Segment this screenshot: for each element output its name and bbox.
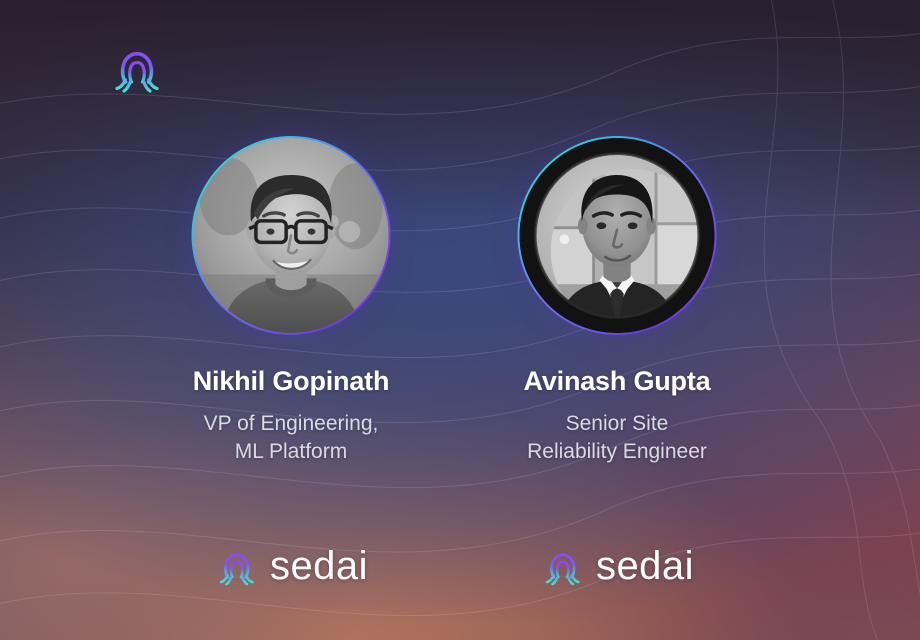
slide-canvas: Nikhil Gopinath VP of Engineering, ML Pl… bbox=[0, 0, 920, 640]
avatar-ring-1 bbox=[192, 136, 391, 335]
avatar bbox=[194, 138, 389, 333]
avatar bbox=[520, 138, 715, 333]
speaker-name: Nikhil Gopinath bbox=[126, 366, 456, 397]
speaker-title-line-2: Reliability Engineer bbox=[452, 438, 782, 466]
speaker-title: VP of Engineering, ML Platform bbox=[126, 410, 456, 466]
sedai-footer-logo-2: sedai bbox=[540, 544, 694, 588]
sedai-wordmark: sedai bbox=[270, 546, 368, 586]
sedai-octopus-logo-icon bbox=[540, 544, 584, 588]
speaker-title: Senior Site Reliability Engineer bbox=[452, 410, 782, 466]
speaker-title-line-1: Senior Site bbox=[452, 410, 782, 438]
sedai-footer-logo-1: sedai bbox=[214, 544, 368, 588]
speaker-name: Avinash Gupta bbox=[452, 366, 782, 397]
sedai-wordmark: sedai bbox=[596, 546, 694, 586]
speaker-title-line-1: VP of Engineering, bbox=[126, 410, 456, 438]
sedai-octopus-logo-icon bbox=[214, 544, 258, 588]
speakers-grid: Nikhil Gopinath VP of Engineering, ML Pl… bbox=[0, 0, 920, 640]
speaker-title-line-2: ML Platform bbox=[126, 438, 456, 466]
avatar-ring-2 bbox=[518, 136, 717, 335]
